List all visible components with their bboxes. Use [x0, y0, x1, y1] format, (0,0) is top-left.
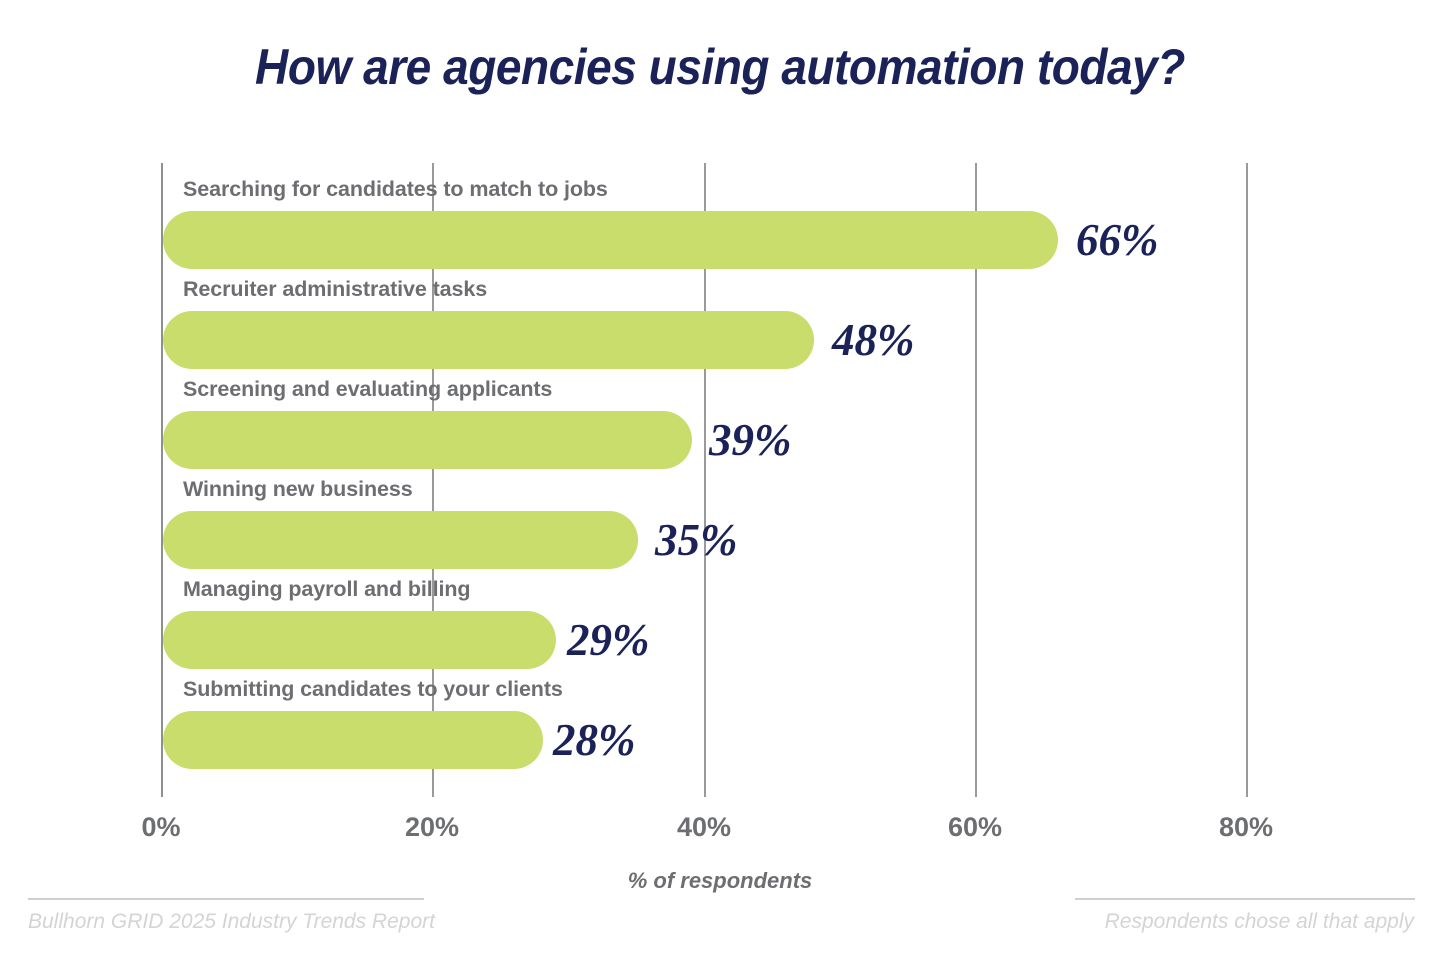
footer-divider-left [28, 898, 424, 900]
bar-value-label: 66% [1076, 211, 1159, 269]
bar-row: Searching for candidates to match to job… [161, 163, 1421, 263]
bar [163, 311, 814, 369]
footer-note-text: Respondents chose all that apply [1105, 910, 1414, 934]
bar [163, 711, 543, 769]
x-axis-title: % of respondents [0, 868, 1440, 894]
bar [163, 611, 556, 669]
bar-row: Screening and evaluating applicants 39% [161, 363, 1421, 463]
bar-row: Recruiter administrative tasks 48% [161, 263, 1421, 363]
footer-divider-right [1075, 898, 1415, 900]
bar-value-label: 48% [832, 311, 915, 369]
bar-rows: Searching for candidates to match to job… [161, 163, 1421, 797]
bar-category-label: Winning new business [183, 477, 413, 502]
bar [163, 511, 638, 569]
bar [163, 211, 1058, 269]
bar-category-label: Submitting candidates to your clients [183, 677, 563, 702]
bar-category-label: Recruiter administrative tasks [183, 277, 487, 302]
page-title: How are agencies using automation today? [58, 38, 1383, 96]
x-tick-label-0: 0% [141, 812, 180, 843]
x-tick-label-80: 80% [1219, 812, 1273, 843]
footer-source-text: Bullhorn GRID 2025 Industry Trends Repor… [28, 910, 435, 934]
bar-row: Winning new business 35% [161, 463, 1421, 563]
x-tick-label-60: 60% [948, 812, 1002, 843]
bar-value-label: 28% [553, 711, 636, 769]
bar-value-label: 29% [567, 611, 650, 669]
bar-row: Submitting candidates to your clients 28… [161, 663, 1421, 763]
x-axis-title-text: % of respondents [628, 868, 813, 894]
bar [163, 411, 692, 469]
x-tick-label-20: 20% [405, 812, 459, 843]
bar-value-label: 39% [709, 411, 792, 469]
bar-value-label: 35% [655, 511, 738, 569]
bar-category-label: Managing payroll and billing [183, 577, 470, 602]
bar-row: Managing payroll and billing 29% [161, 563, 1421, 663]
x-tick-label-40: 40% [677, 812, 731, 843]
bar-category-label: Searching for candidates to match to job… [183, 177, 608, 202]
bar-category-label: Screening and evaluating applicants [183, 377, 552, 402]
